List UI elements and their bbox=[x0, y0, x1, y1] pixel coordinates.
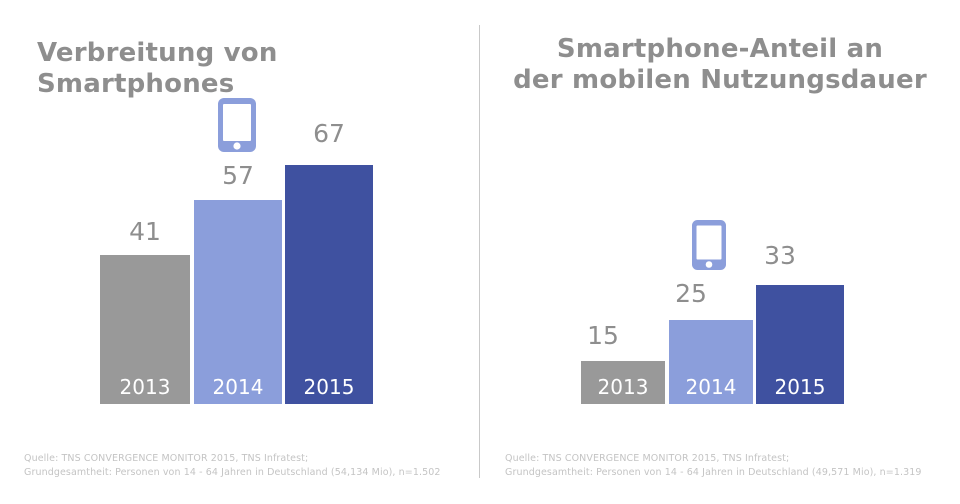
left-bar-2014: 2014 bbox=[194, 200, 282, 404]
smartphone-icon bbox=[690, 218, 728, 272]
right-value-label-2014: 25 bbox=[656, 280, 726, 307]
infographic-canvas: Verbreitung von Smartphones 41 57 67 201… bbox=[0, 0, 960, 504]
right-year-label-2015: 2015 bbox=[756, 376, 844, 398]
right-value-label-2015: 33 bbox=[745, 242, 815, 269]
left-year-label-2014: 2014 bbox=[194, 376, 282, 398]
left-value-label-2013: 41 bbox=[110, 218, 180, 245]
left-bar-2013: 2013 bbox=[100, 255, 190, 404]
right-bar-chart: 15 25 33 2013 2014 2015 bbox=[480, 0, 960, 504]
left-value-label-2014: 57 bbox=[203, 162, 273, 189]
right-value-label-2013: 15 bbox=[568, 322, 638, 349]
right-source-note: Quelle: TNS CONVERGENCE MONITOR 2015, TN… bbox=[505, 452, 922, 480]
left-year-label-2013: 2013 bbox=[100, 376, 190, 398]
right-year-label-2014: 2014 bbox=[669, 376, 753, 398]
left-source-note: Quelle: TNS CONVERGENCE MONITOR 2015, TN… bbox=[24, 452, 441, 480]
right-bar-2013: 2013 bbox=[581, 361, 665, 404]
right-bar-2015: 2015 bbox=[756, 285, 844, 404]
left-year-label-2015: 2015 bbox=[285, 376, 373, 398]
left-chart-panel: Verbreitung von Smartphones 41 57 67 201… bbox=[0, 0, 479, 504]
right-bar-2014: 2014 bbox=[669, 320, 753, 404]
right-year-label-2013: 2013 bbox=[581, 376, 665, 398]
smartphone-icon bbox=[216, 96, 258, 154]
left-value-label-2015: 67 bbox=[294, 120, 364, 147]
right-chart-panel: Smartphone-Anteil an der mobilen Nutzung… bbox=[480, 0, 960, 504]
left-bar-chart: 41 57 67 2013 2014 2015 bbox=[0, 0, 479, 504]
left-bar-2015: 2015 bbox=[285, 165, 373, 404]
